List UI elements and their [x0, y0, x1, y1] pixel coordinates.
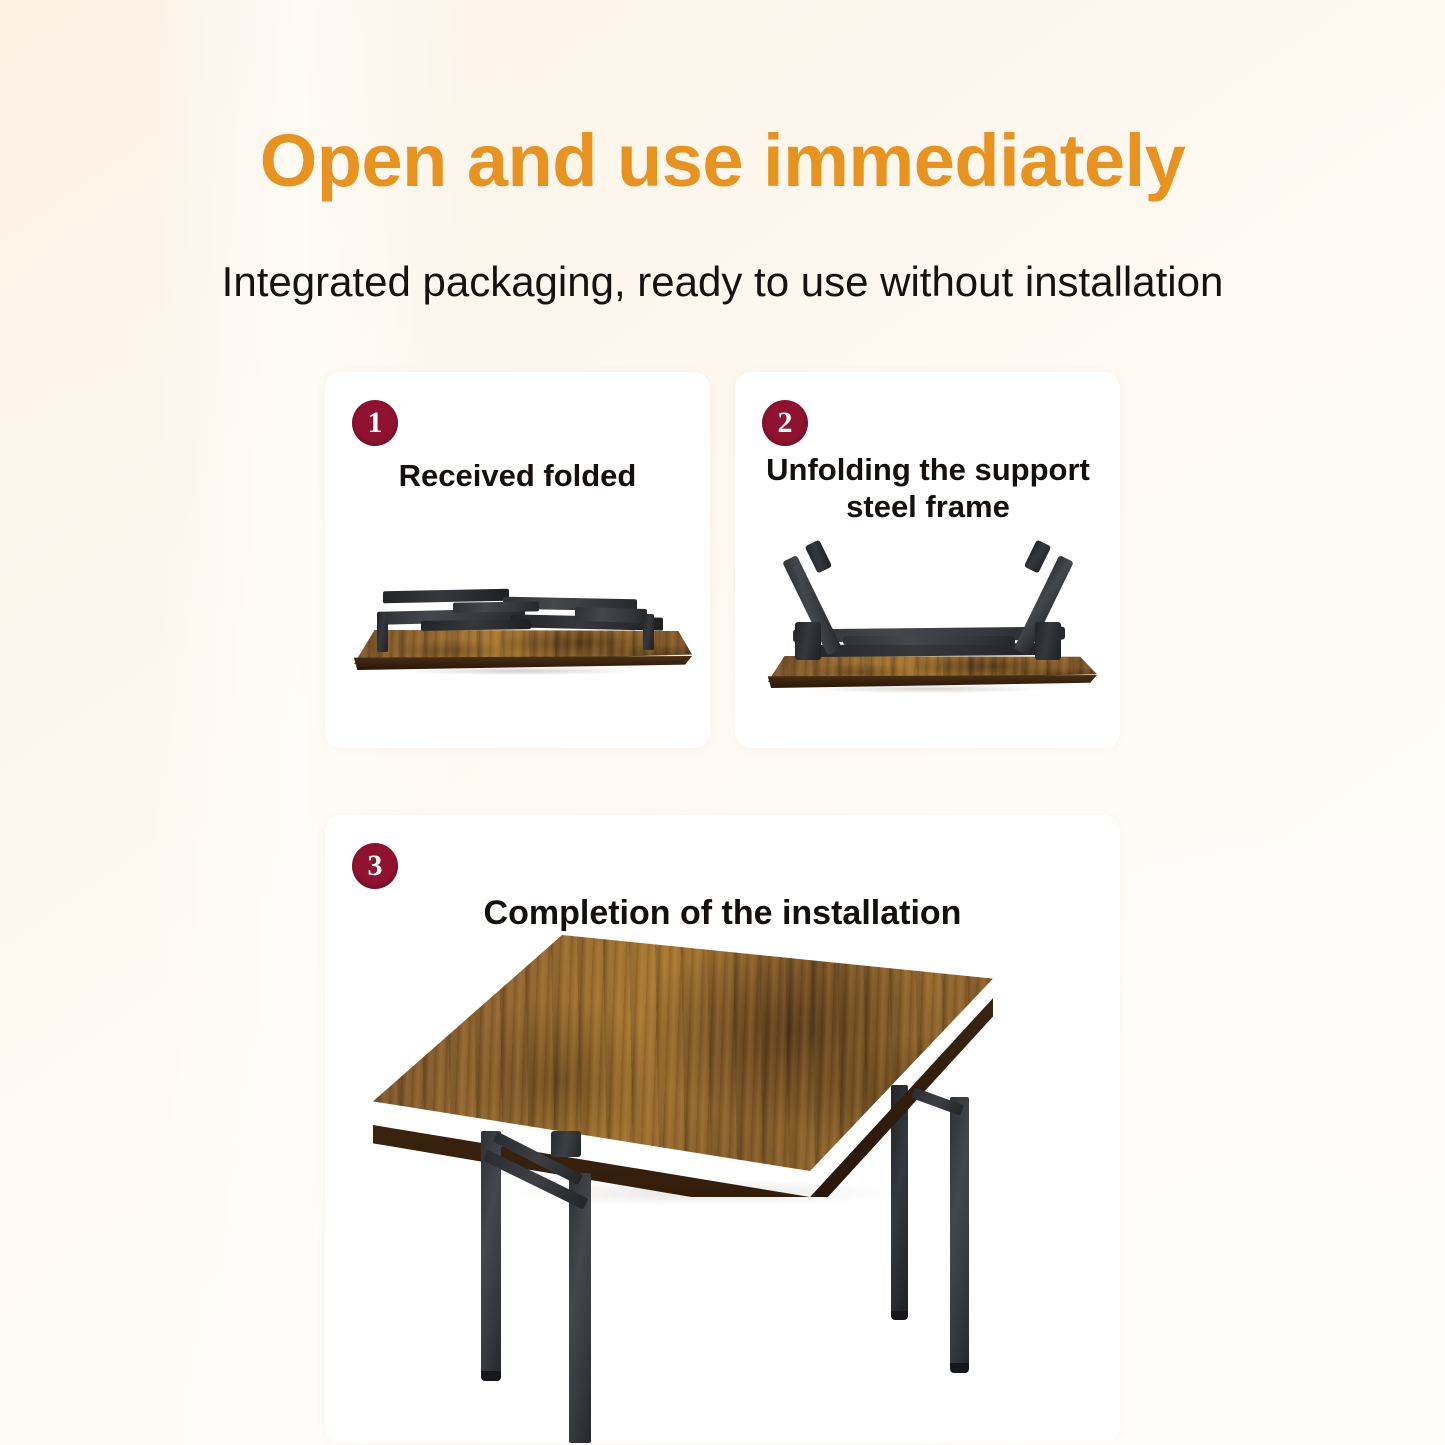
step-illustration-3: [325, 935, 1120, 1443]
frame-post: [377, 612, 388, 652]
cross-brace: [843, 636, 1015, 645]
table-leg-left-front: [569, 1173, 591, 1443]
page-subtitle: Integrated packaging, ready to use witho…: [0, 258, 1445, 306]
step-illustration-2: [735, 532, 1120, 704]
product-infographic-poster: Open and use immediately Integrated pack…: [0, 0, 1445, 1445]
hinge-plate-left: [551, 1131, 581, 1157]
leg-brace-right: [911, 1088, 964, 1116]
folded-rail: [453, 601, 539, 612]
step-card-2: 2 Unfolding the support steel frame: [735, 372, 1120, 748]
hinge-block-right: [1035, 622, 1061, 660]
folded-rail: [421, 619, 531, 631]
support-leg-right-tip: [1024, 540, 1052, 574]
table-leg-right-front: [950, 1097, 969, 1369]
step-number-badge-3: 3: [352, 843, 398, 889]
step-number-badge-1: 1: [352, 400, 398, 446]
frame-post: [643, 614, 654, 650]
hinge-block-left: [795, 622, 821, 660]
leg-foot: [950, 1363, 969, 1373]
step-label-3: Completion of the installation: [325, 893, 1120, 933]
step-label-1: Received folded: [325, 458, 710, 495]
step-card-3: 3 Completion of the installation: [325, 815, 1120, 1443]
leg-foot: [481, 1371, 501, 1381]
step-label-2-line-1: Unfolding the support: [766, 452, 1090, 487]
step-number-badge-2: 2: [762, 400, 808, 446]
page-title: Open and use immediately: [0, 118, 1445, 203]
step-illustration-1: [325, 568, 710, 698]
folded-bracket: [575, 607, 647, 623]
leg-foot: [891, 1311, 908, 1320]
support-leg-left-tip: [805, 540, 833, 574]
step-label-2-line-2: steel frame: [846, 489, 1010, 524]
step-label-2: Unfolding the support steel frame: [753, 452, 1103, 525]
step-card-1: 1 Received folded: [325, 372, 710, 748]
